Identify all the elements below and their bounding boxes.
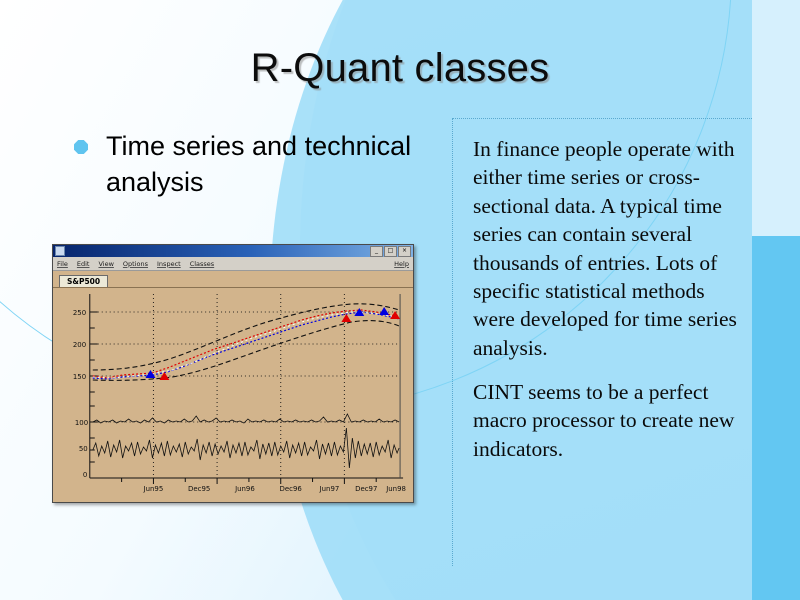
menu-item-options[interactable]: Options <box>123 260 148 268</box>
menu-item-view[interactable]: View <box>98 260 113 268</box>
menu-item-help[interactable]: Help <box>394 260 409 268</box>
menu-item-file[interactable]: File <box>57 260 68 268</box>
xtick-6: Jun98 <box>385 485 406 493</box>
app-window-screenshot: _ □ × File Edit View Options Inspect Cla… <box>52 244 414 503</box>
decorative-right-band-top <box>752 0 800 236</box>
ytick-150: 150 <box>73 373 86 381</box>
xtick-2: Jun96 <box>234 485 255 493</box>
menu-item-inspect[interactable]: Inspect <box>157 260 181 268</box>
maximize-button[interactable]: □ <box>384 246 397 257</box>
slide-canvas: R-Quant classes Time series and technica… <box>0 0 800 600</box>
page-title: R-Quant classes <box>0 46 800 91</box>
menu-item-classes[interactable]: Classes <box>190 260 215 268</box>
ytick-250: 250 <box>73 309 86 317</box>
bullet-label: Time series and technical analysis <box>106 128 440 201</box>
menu-bar: File Edit View Options Inspect Classes H… <box>53 257 413 271</box>
right-text-panel: In finance people operate with either ti… <box>452 118 752 566</box>
window-titlebar[interactable]: _ □ × <box>53 245 413 257</box>
window-icon <box>55 246 65 256</box>
ytick-50: 50 <box>79 445 88 453</box>
menu-item-edit[interactable]: Edit <box>77 260 90 268</box>
tab-sp500[interactable]: S&P500 <box>59 275 108 287</box>
chart-svg: 250 200 150 100 50 0 <box>53 288 413 502</box>
tab-strip: S&P500 <box>53 271 413 288</box>
paragraph-1: In finance people operate with either ti… <box>473 135 746 362</box>
chart-plot-area: 250 200 150 100 50 0 <box>53 288 413 502</box>
list-item: Time series and technical analysis <box>60 128 440 201</box>
xtick-4: Jun97 <box>319 485 340 493</box>
xtick-3: Dec96 <box>280 485 302 493</box>
xtick-1: Dec95 <box>188 485 210 493</box>
menu-items: File Edit View Options Inspect Classes <box>57 260 214 268</box>
minimize-button[interactable]: _ <box>370 246 383 257</box>
ytick-200: 200 <box>73 341 86 349</box>
ytick-0: 0 <box>83 471 87 479</box>
paragraph-2: CINT seems to be a perfect macro process… <box>473 378 746 463</box>
left-column: Time series and technical analysis <box>60 128 440 201</box>
xtick-5: Dec97 <box>355 485 377 493</box>
window-controls: _ □ × <box>370 246 411 257</box>
xtick-0: Jun95 <box>143 485 164 493</box>
ytick-100: 100 <box>75 419 88 427</box>
bullet-dot-icon <box>74 140 88 154</box>
close-button[interactable]: × <box>398 246 411 257</box>
